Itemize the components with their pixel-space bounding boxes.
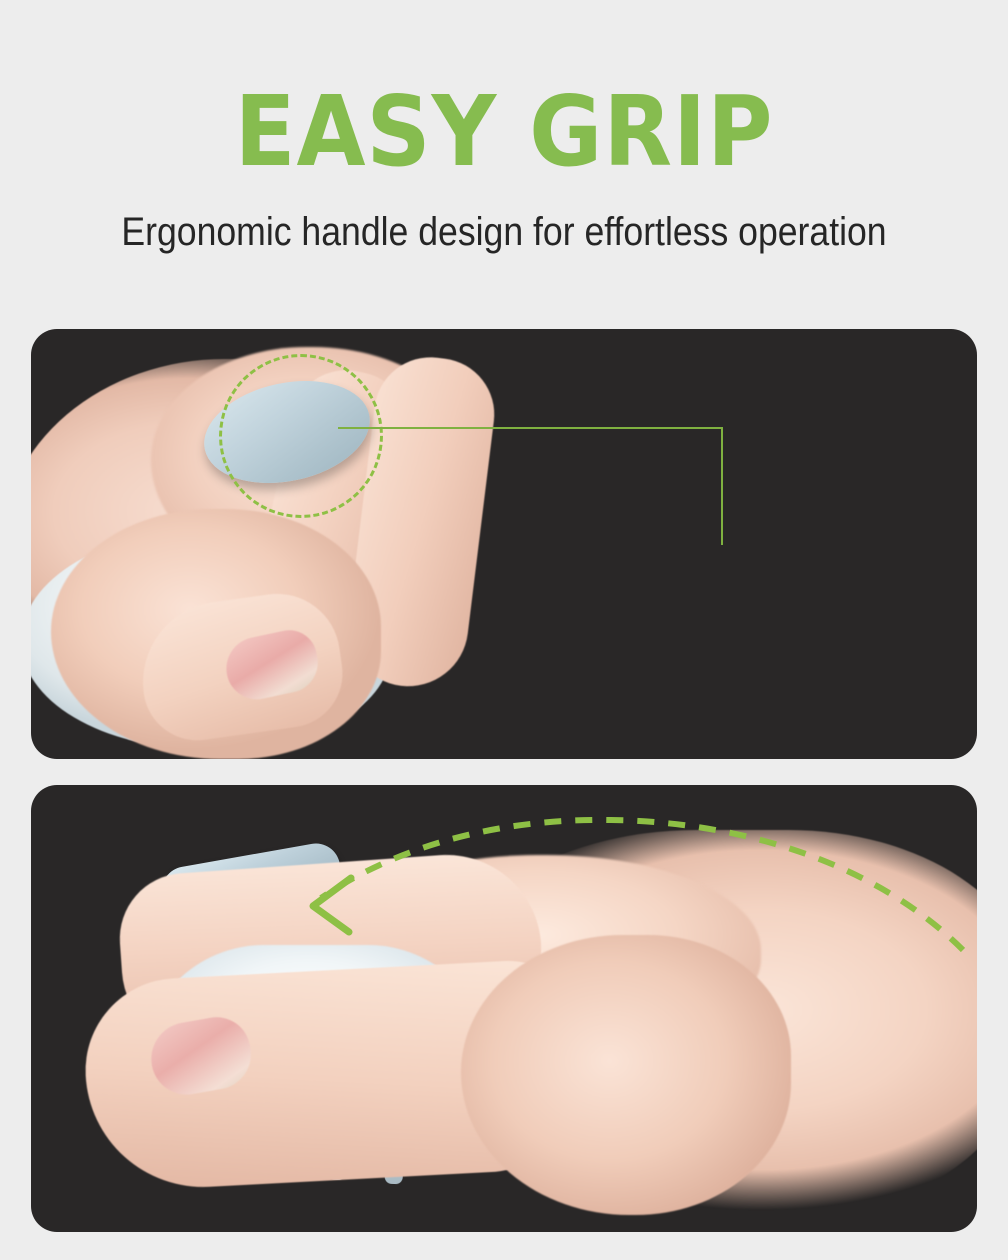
- leader-line-vertical: [721, 427, 723, 545]
- dashed-curved-arrow: [51, 790, 977, 990]
- page-title: EASY GRIP: [40, 82, 967, 182]
- hand-grip-top-photo: [31, 329, 977, 759]
- marketing-banner: EASY GRIP Ergonomic handle design for ef…: [0, 0, 1008, 1260]
- curved-handle-card: Curved Handle Nonskid Grip Easy to use: [31, 785, 977, 1232]
- index-middle-grip-card: Index-Middle Grip: [31, 329, 977, 759]
- dashed-circle-highlight: [219, 354, 383, 518]
- leader-line-horizontal: [338, 427, 723, 429]
- page-subtitle: Ergonomic handle design for effortless o…: [55, 208, 952, 256]
